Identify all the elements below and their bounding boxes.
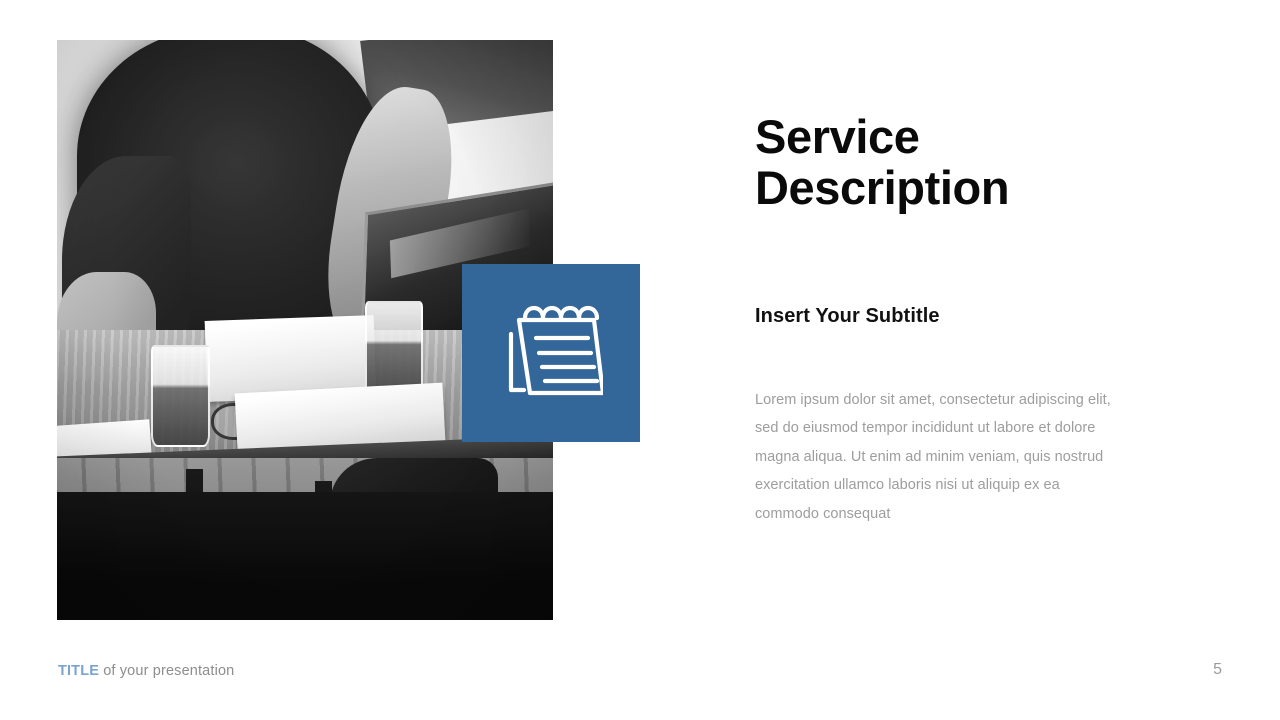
page-number: 5 xyxy=(1213,661,1222,679)
footer-accent: TITLE xyxy=(58,663,99,679)
footer-rest: of your presentation xyxy=(99,663,234,679)
slide-canvas: Service Description Insert Your Subtitle… xyxy=(0,0,1280,720)
footer-text: TITLE of your presentation xyxy=(58,663,234,679)
body-paragraph: Lorem ipsum dolor sit amet, consectetur … xyxy=(755,386,1127,529)
page-title: Service Description xyxy=(755,112,1155,214)
page-title-line-1: Service xyxy=(755,110,919,163)
page-title-line-2: Description xyxy=(755,161,1009,214)
title-block: Service Description xyxy=(755,112,1155,214)
subtitle: Insert Your Subtitle xyxy=(755,305,940,328)
spiral-notepad-icon xyxy=(499,305,603,401)
icon-tile xyxy=(462,264,640,442)
